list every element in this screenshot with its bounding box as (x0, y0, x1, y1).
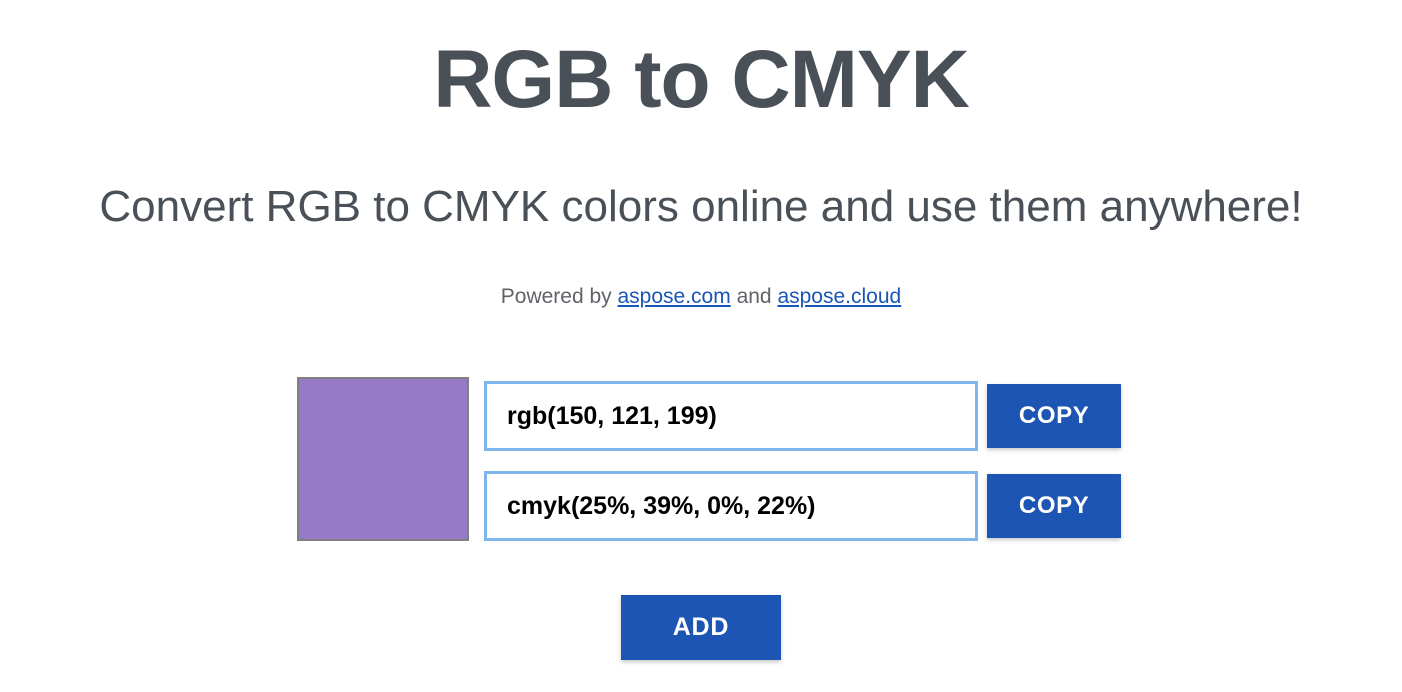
aspose-com-link[interactable]: aspose.com (618, 285, 731, 308)
add-button[interactable]: ADD (621, 595, 781, 660)
cmyk-row: cmyk(25%, 39%, 0%, 22%) COPY (484, 471, 1121, 541)
page-title: RGB to CMYK (0, 30, 1402, 130)
page-subtitle: Convert RGB to CMYK colors online and us… (0, 178, 1402, 236)
rgb-value-field[interactable]: rgb(150, 121, 199) (484, 381, 978, 451)
color-preview-swatch (297, 377, 469, 541)
copy-rgb-button[interactable]: COPY (987, 384, 1121, 448)
powered-by-prefix: Powered by (501, 285, 618, 308)
copy-cmyk-button[interactable]: COPY (987, 474, 1121, 538)
converter-widget: rgb(150, 121, 199) COPY cmyk(25%, 39%, 0… (297, 377, 1121, 543)
powered-by-line: Powered by aspose.com and aspose.cloud (0, 283, 1402, 311)
cmyk-value-field[interactable]: cmyk(25%, 39%, 0%, 22%) (484, 471, 978, 541)
rgb-to-cmyk-page: RGB to CMYK Convert RGB to CMYK colors o… (0, 0, 1402, 692)
value-rows: rgb(150, 121, 199) COPY cmyk(25%, 39%, 0… (484, 381, 1121, 541)
aspose-cloud-link[interactable]: aspose.cloud (777, 285, 901, 308)
powered-by-separator: and (731, 285, 778, 308)
rgb-row: rgb(150, 121, 199) COPY (484, 381, 1121, 451)
add-button-row: ADD (0, 595, 1402, 660)
